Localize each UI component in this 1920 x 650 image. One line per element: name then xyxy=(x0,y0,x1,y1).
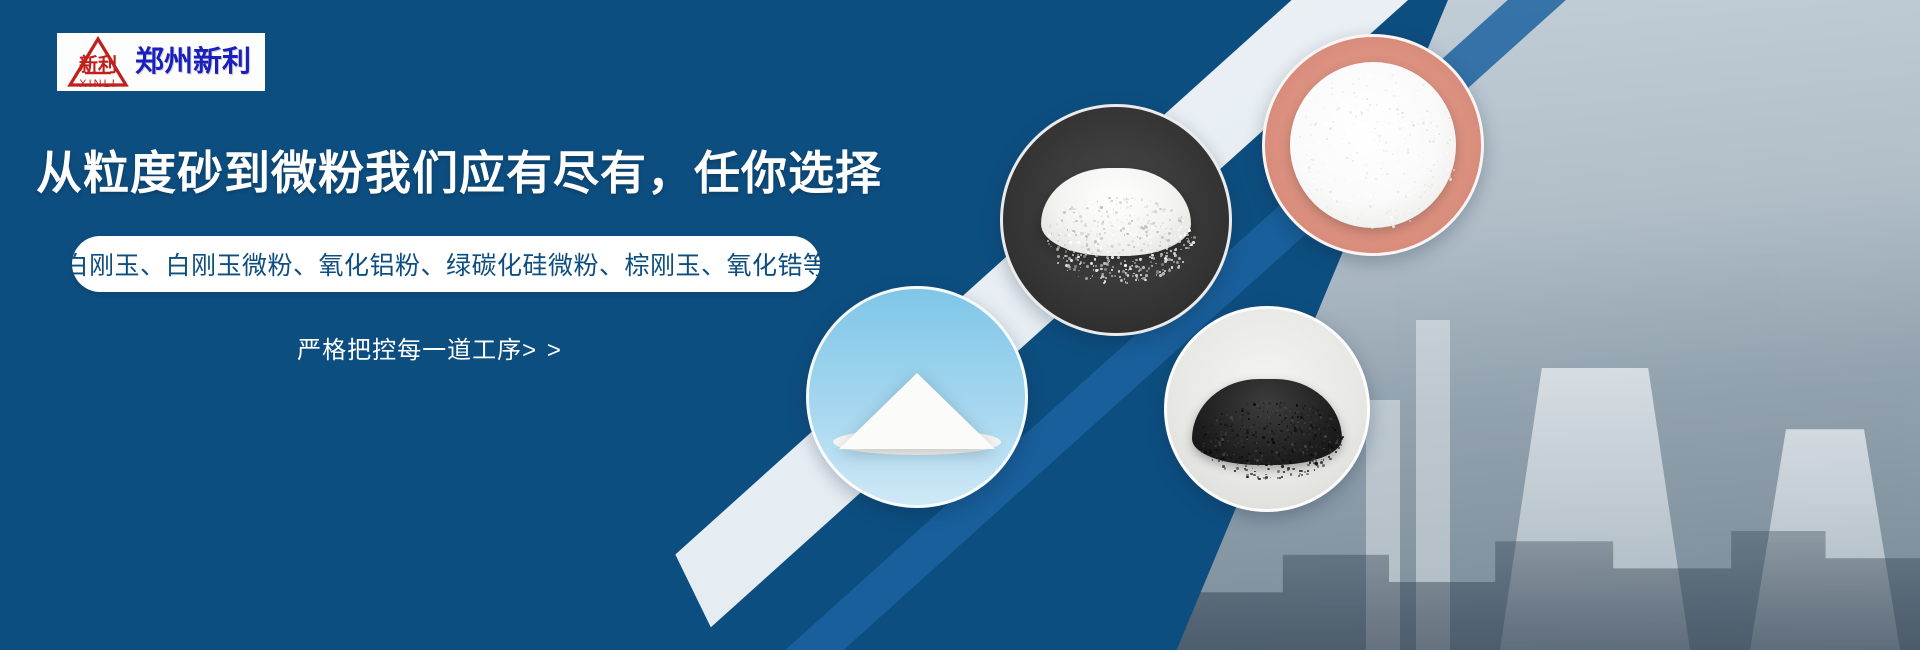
product-image-powder-cone-blue[interactable] xyxy=(806,286,1028,508)
grain-texture xyxy=(1167,309,1367,509)
promo-banner: 新利 XINLI 郑州新利 从粒度砂到微粉我们应有尽有，任你选择 白刚玉、白刚玉… xyxy=(0,0,1920,650)
grain-texture xyxy=(1265,37,1481,253)
cta-arrow-icon: > > xyxy=(522,337,563,364)
product-image-micro-powder-pink[interactable] xyxy=(1262,34,1484,256)
logo[interactable]: 新利 XINLI 郑州新利 xyxy=(57,33,265,91)
logo-company-name: 郑州新利 xyxy=(135,48,251,77)
product-image-white-grit-dark[interactable] xyxy=(1000,104,1232,336)
headline: 从粒度砂到微粉我们应有尽有，任你选择 xyxy=(36,148,1036,199)
grain-texture xyxy=(1003,107,1229,333)
cta-link[interactable]: 严格把控每一道工序> > xyxy=(140,330,720,365)
product-list-pill[interactable]: 白刚玉、白刚玉微粉、氧化铝粉、绿碳化硅微粉、棕刚玉、氧化锆等 xyxy=(72,236,820,292)
xinli-triangle-icon: 新利 XINLI xyxy=(67,35,129,89)
product-list-text: 白刚玉、白刚玉微粉、氧化铝粉、绿碳化硅微粉、棕刚玉、氧化锆等 xyxy=(64,246,829,282)
svg-text:XINLI: XINLI xyxy=(79,78,117,89)
cta-label: 严格把控每一道工序 xyxy=(297,337,522,364)
product-image-black-grit-white[interactable] xyxy=(1164,306,1370,512)
powder-cone xyxy=(839,373,995,449)
svg-text:新利: 新利 xyxy=(79,53,117,76)
